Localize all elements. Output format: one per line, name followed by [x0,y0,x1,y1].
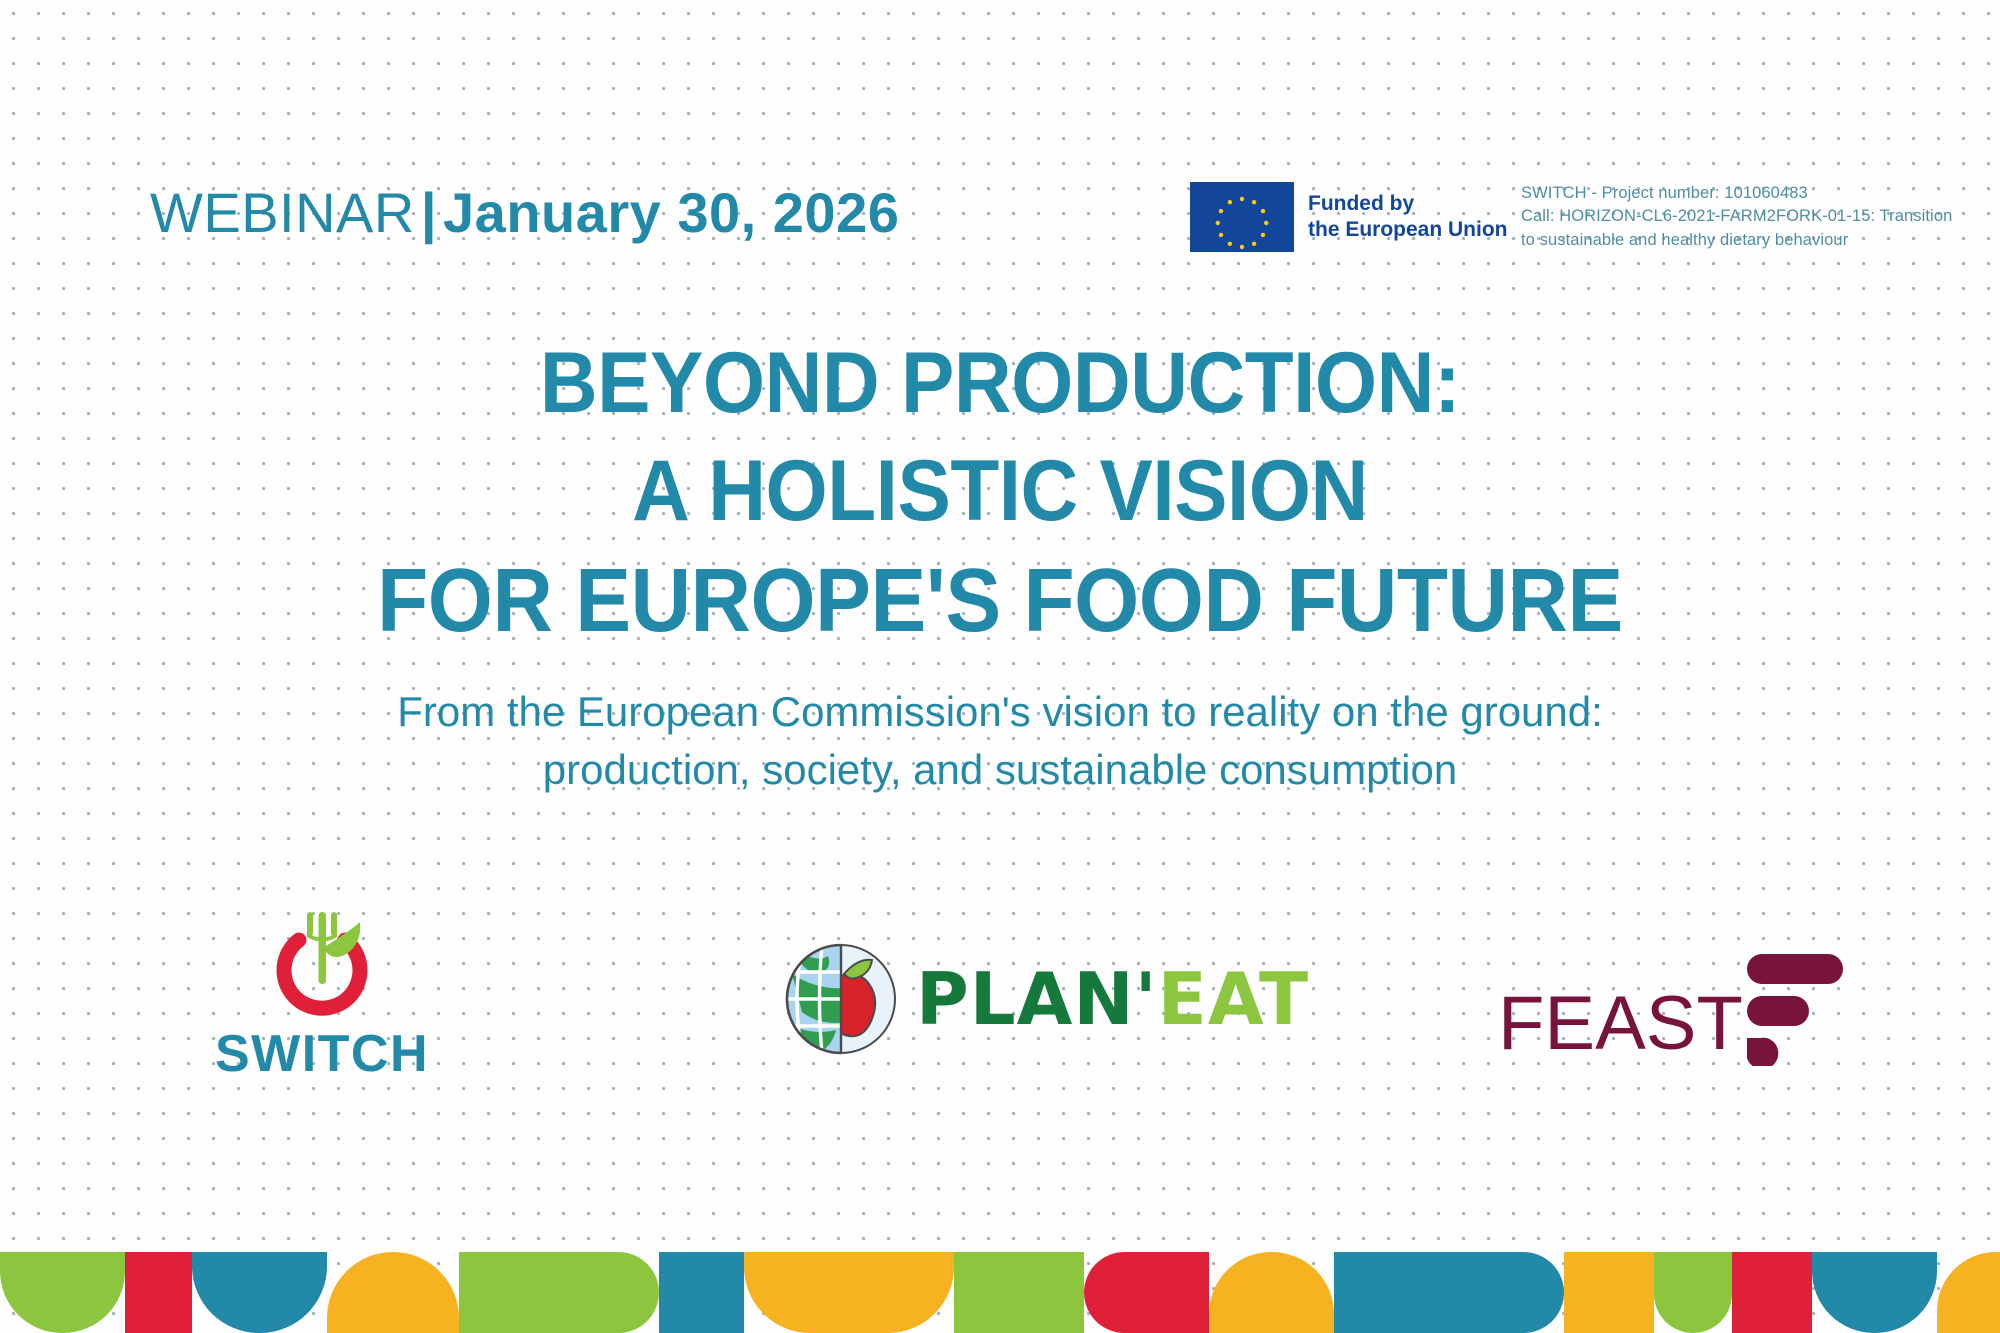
eu-funding-line2: the European Union [1308,217,1508,243]
title-line-3: FOR EUROPE'S FOOD FUTURE [70,556,1930,646]
strip-cell [1654,1252,1732,1333]
eu-stars-icon [1190,182,1294,252]
switch-fork-power-icon [257,900,387,1020]
strip-cell [0,1252,125,1333]
logo-planeat: PLAN'EAT [782,940,1309,1058]
subtitle-line-2: production, society, and sustainable con… [0,741,2000,799]
webinar-separator: | [415,181,443,244]
partner-logos: SWITCH [0,900,2000,1120]
strip-cell [1732,1252,1812,1333]
strip-cell [1812,1252,1937,1333]
strip-cell [1209,1252,1334,1333]
planeat-word-first: PLAN' [916,957,1158,1041]
webinar-date: January 30, 2026 [443,181,899,244]
webinar-headline: WEBINAR|January 30, 2026 [150,180,899,245]
strip-cell [1334,1252,1564,1333]
page-subtitle: From the European Commission's vision to… [0,683,2000,799]
planeat-word-second: EAT [1158,957,1309,1041]
subtitle-line-1: From the European Commission's vision to… [0,683,2000,741]
strip-cell [744,1252,954,1333]
project-note-line3: to sustainable and healthy dietary behav… [1521,229,1971,252]
eu-funding-lockup: Funded by the European Union [1190,182,1508,252]
globe-apple-icon [782,940,900,1058]
switch-wordmark: SWITCH [212,1024,432,1084]
poster-header: WEBINAR|January 30, 2026 [0,84,2000,194]
strip-cell [192,1252,327,1333]
strip-cell [954,1252,1084,1333]
strip-cell [1564,1252,1654,1333]
strip-cell [125,1252,192,1333]
project-reference-note: SWITCH - Project number: 101060483 Call:… [1521,182,1971,252]
title-line-1: BEYOND PRODUCTION: [70,340,1930,426]
logo-feast: FEAST [1498,948,1847,1062]
webinar-label: WEBINAR [150,181,415,244]
planeat-wordmark: PLAN'EAT [916,957,1309,1041]
feast-wordmark: FEAST [1498,986,1743,1062]
strip-cell [327,1252,459,1333]
strip-cell [1937,1252,2000,1333]
webinar-poster: WEBINAR|January 30, 2026 [0,0,2000,1333]
title-line-2: A HOLISTIC VISION [70,448,1930,534]
eu-funding-text: Funded by the European Union [1308,191,1508,242]
eu-flag-icon [1190,182,1294,252]
strip-cell [459,1252,659,1333]
strip-cell [659,1252,744,1333]
feast-f-icon [1737,948,1847,1066]
bottom-color-strip [0,1252,2000,1333]
project-note-line1: SWITCH - Project number: 101060483 [1521,182,1971,205]
project-note-line2: Call: HORIZON-CL6-2021-FARM2FORK-01-15: … [1521,205,1971,228]
eu-funding-line1: Funded by [1308,191,1508,217]
page-title: BEYOND PRODUCTION: A HOLISTIC VISION FOR… [0,340,2000,646]
strip-cell [1084,1252,1209,1333]
logo-switch: SWITCH [212,900,432,1084]
